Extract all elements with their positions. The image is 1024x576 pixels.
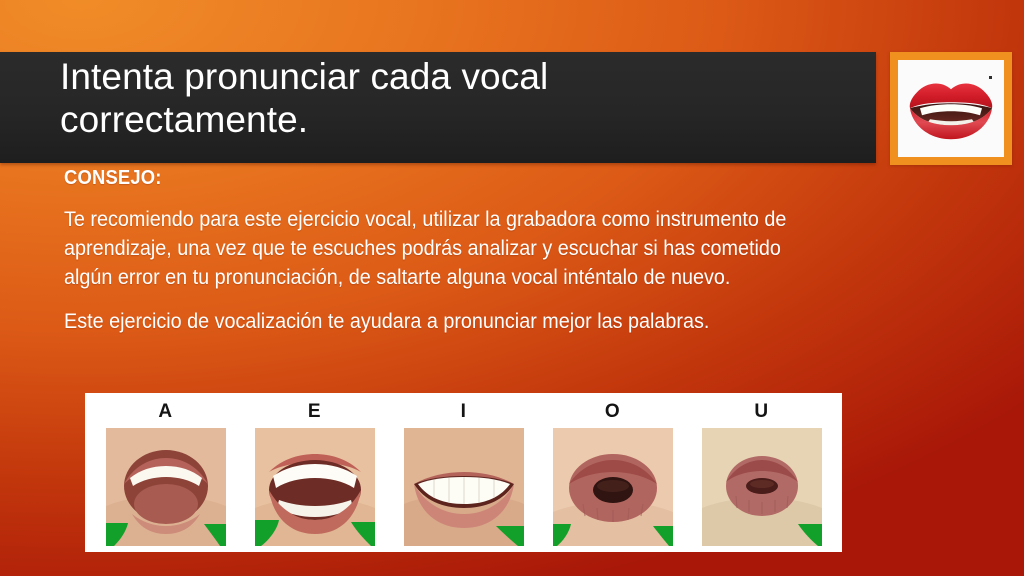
body-copy: CONSEJO: Te recomiendo para este ejercic… (64, 168, 864, 336)
title-bar: Intenta pronunciar cada vocal correctame… (0, 52, 876, 163)
mouth-photo-o (553, 428, 673, 546)
vowel-letter-u: U (754, 402, 768, 421)
slide-canvas: Intenta pronunciar cada vocal correctame… (0, 0, 1024, 576)
advice-paragraph-2: Este ejercicio de vocalización te ayudar… (64, 307, 800, 336)
vowel-cell-i: I (397, 393, 530, 546)
vowel-cell-e: E (248, 393, 381, 546)
vowel-cell-u: U (695, 393, 828, 546)
mouth-photo-i (404, 428, 524, 546)
vowel-cell-a: A (99, 393, 232, 546)
vowel-letter-o: O (605, 402, 620, 421)
consejo-heading: CONSEJO: (64, 168, 800, 188)
mouth-photo-a (106, 428, 226, 546)
vowel-photo-strip: A E (85, 393, 842, 552)
vowel-letter-e: E (308, 402, 321, 421)
lips-thumbnail-frame (890, 52, 1012, 165)
vowel-letter-a: A (158, 402, 172, 421)
vowel-cell-o: O (546, 393, 679, 546)
vowel-letter-i: I (461, 402, 467, 421)
advice-paragraph-1: Te recomiendo para este ejercicio vocal,… (64, 205, 800, 291)
page-title: Intenta pronunciar cada vocal correctame… (60, 56, 860, 142)
mouth-photo-u (702, 428, 822, 546)
lips-thumbnail-inner (898, 60, 1004, 157)
lips-icon (908, 79, 994, 141)
mouth-photo-e (255, 428, 375, 546)
